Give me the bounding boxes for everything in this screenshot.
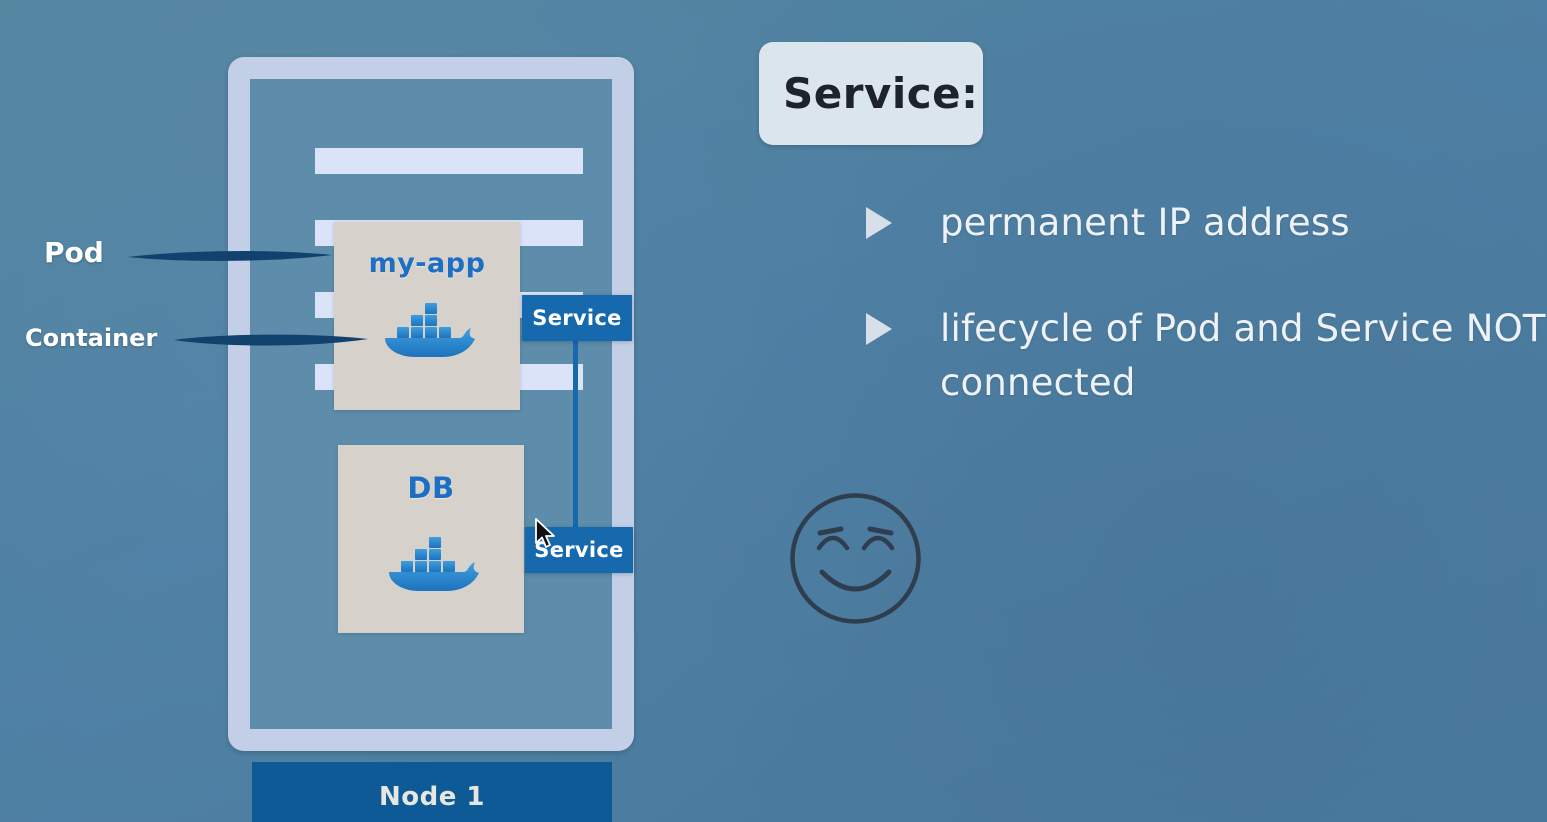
annotation-container-label: Container <box>25 324 157 352</box>
service-badge-my-app[interactable]: Service <box>522 295 632 341</box>
triangle-right-icon <box>866 313 892 345</box>
service-badge-label: Service <box>534 538 623 562</box>
docker-whale-icon <box>383 527 479 597</box>
bullet-text: lifecycle of Pod and Service NOT connect… <box>940 302 1546 410</box>
annotation-text: Container <box>25 324 157 352</box>
list-item: lifecycle of Pod and Service NOT connect… <box>866 302 1546 410</box>
smiling-face-icon <box>789 492 922 629</box>
bullet-text: permanent IP address <box>940 196 1350 250</box>
node-label: Node 1 <box>252 762 612 822</box>
node-label-text: Node 1 <box>379 782 485 812</box>
pod-title: DB <box>407 471 454 505</box>
page-title: Service: <box>783 69 978 118</box>
triangle-right-icon <box>866 207 892 239</box>
pod-my-app[interactable]: my-app <box>334 222 520 410</box>
annotation-pod-label: Pod <box>44 236 104 269</box>
bullet-list: permanent IP address lifecycle of Pod an… <box>866 196 1546 462</box>
node-inner-panel: my-app <box>250 79 612 729</box>
annotation-pod-leader-line <box>126 240 336 270</box>
rack-slot-bar <box>315 148 583 174</box>
pod-db[interactable]: DB <box>338 445 524 633</box>
service-badge-label: Service <box>532 306 621 330</box>
node-frame: my-app <box>228 57 634 751</box>
docker-whale-icon <box>379 293 475 363</box>
annotation-text: Pod <box>44 236 104 269</box>
pod-title: my-app <box>369 248 486 279</box>
list-item: permanent IP address <box>866 196 1546 250</box>
annotation-container-leader-line <box>172 325 372 355</box>
panel-title-chip: Service: <box>759 42 983 145</box>
node-diagram: my-app <box>228 57 636 822</box>
service-badge-db[interactable]: Service <box>525 527 633 573</box>
service-connector-line <box>573 341 578 531</box>
